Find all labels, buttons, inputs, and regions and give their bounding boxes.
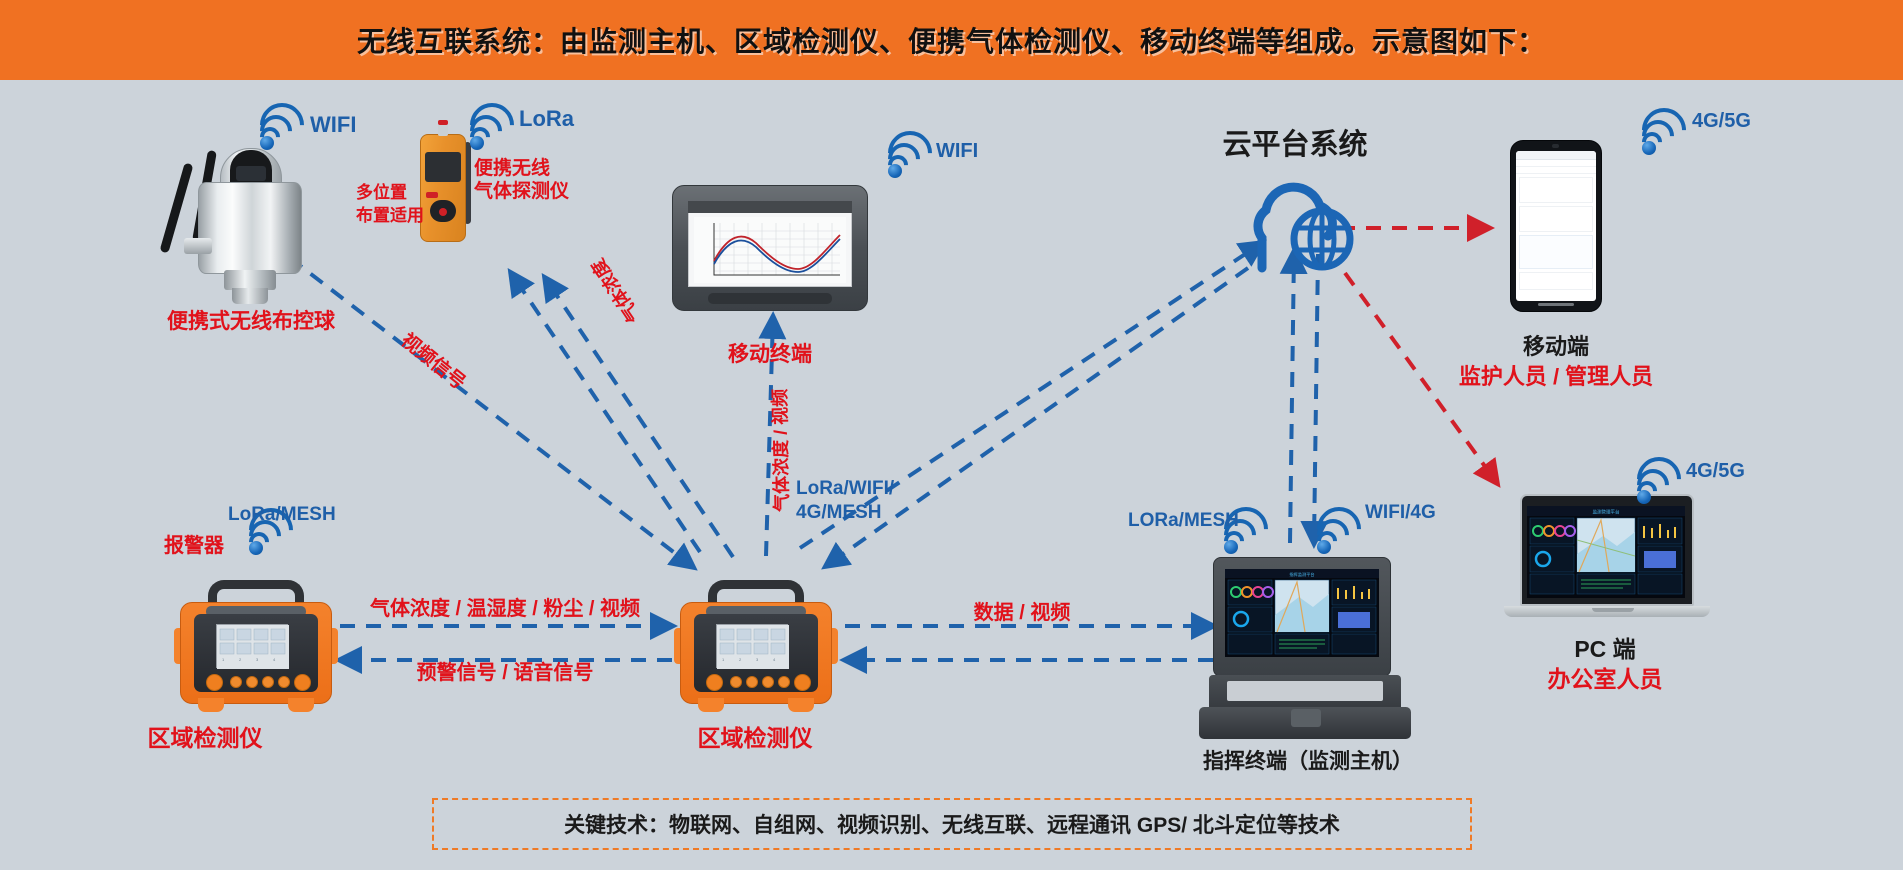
laptop-base-notch xyxy=(1592,608,1634,612)
label-gas-detector-line2: 气体探测仪 xyxy=(474,181,569,203)
camera-glass xyxy=(236,166,266,181)
signal-label-lora-gas: LoRa xyxy=(519,106,574,132)
detector-left-foot-r xyxy=(288,698,314,712)
label-mobile-client: 移动端 xyxy=(1523,334,1589,360)
detector-mid-button-1 xyxy=(730,676,742,688)
detector-mid-foot-r xyxy=(788,698,814,712)
detector-body xyxy=(420,134,466,242)
detector-left-power-button xyxy=(206,674,223,691)
link-label-video-signal: 视频信号 xyxy=(396,330,469,395)
detector-mid-button-4 xyxy=(778,676,790,688)
link-label-gas-concentration: 气体浓度 xyxy=(588,254,646,326)
detector-mid-screen-svg: 1234 xyxy=(717,625,789,669)
mobile-terminal-tablet xyxy=(672,185,868,311)
phone-stat-card-1 xyxy=(1519,177,1593,203)
label-command-terminal: 指挥终端（监测主机） xyxy=(1203,750,1413,775)
label-mobile-client-roles: 监护人员 / 管理人员 xyxy=(1459,364,1653,390)
command-touchpad xyxy=(1291,709,1321,727)
detector-mid-button-row xyxy=(706,676,810,690)
phone-stat-card-2 xyxy=(1519,206,1593,232)
detector-mid-screen: 1234 xyxy=(716,624,788,668)
tablet-button-strip xyxy=(708,293,832,304)
label-ptz-camera: 便携式无线布控球 xyxy=(167,310,335,335)
label-area-detector-left: 区域检测仪 xyxy=(148,725,263,752)
phone-tabbar xyxy=(1516,167,1596,174)
page-title: 无线互联系统：由监测主机、区域检测仪、便携气体检测仪、移动终端等组成。示意图如下… xyxy=(357,20,1546,60)
wifi-icon-camera xyxy=(258,112,304,150)
tablet-chart xyxy=(694,217,846,283)
detector-left-button-4 xyxy=(278,676,290,688)
header-banner: 无线互联系统：由监测主机、区域检测仪、便携气体检测仪、移动终端等组成。示意图如下… xyxy=(0,0,1903,80)
signal-label-lora-mesh-command: LORa/MESH xyxy=(1128,510,1239,532)
detector-left-screen: 1234 xyxy=(216,624,288,668)
label-mobile-terminal: 移动终端 xyxy=(728,343,812,368)
detector-mid-power-button xyxy=(706,674,723,691)
svg-text:指挥监测平台: 指挥监测平台 xyxy=(1289,571,1314,578)
camera-base-lower xyxy=(232,288,268,304)
key-technology-text: 关键技术：物联网、自组网、视频识别、无线互联、远程通讯 GPS/ 北斗定位等技术 xyxy=(564,809,1340,839)
ptz-camera-device xyxy=(160,120,350,310)
link-label-data-video: 数据 / 视频 xyxy=(974,602,1071,626)
detector-left-button-1 xyxy=(230,676,242,688)
signal-icon-4g5g-pc xyxy=(1635,466,1681,504)
label-alarm-device: 报警器 xyxy=(164,535,224,559)
pc-laptop-device: 监测管理平台 xyxy=(1520,494,1726,618)
detector-left-alarm-button xyxy=(294,674,311,691)
signal-label-lora-mesh-alarm: LoRa/MESH xyxy=(228,504,336,526)
link-label-lora-wifi-4g-mesh-line2: 4G/MESH xyxy=(796,502,882,524)
detector-mid-alarm-button xyxy=(794,674,811,691)
command-terminal-device: 指挥监测平台 xyxy=(1213,557,1405,743)
cloud-globe-svg xyxy=(1232,180,1372,280)
label-area-detector-mid: 区域检测仪 xyxy=(698,725,813,752)
command-dashboard-svg: 指挥监测平台 xyxy=(1225,569,1379,657)
link-label-alarm-voice: 预警信号 / 语音信号 xyxy=(417,662,594,686)
cloud-platform-icon xyxy=(1232,180,1372,280)
phone-chart-card xyxy=(1519,235,1593,269)
label-pc-client-roles: 办公室人员 xyxy=(1548,666,1663,693)
detector-center-key xyxy=(439,208,447,216)
laptop-screen: 监测管理平台 xyxy=(1527,506,1685,598)
detector-left-foot-l xyxy=(198,698,224,712)
detector-mid-button-3 xyxy=(762,676,774,688)
key-technology-box: 关键技术：物联网、自组网、视频识别、无线互联、远程通讯 GPS/ 北斗定位等技术 xyxy=(432,798,1472,850)
command-keyboard-keys xyxy=(1227,681,1383,701)
link-label-gas-and-video: 气体浓度 / 视频 xyxy=(770,389,793,512)
label-pc-client: PC 端 xyxy=(1574,636,1635,663)
lora-icon-gas-detector xyxy=(468,112,514,150)
tablet-chart-svg xyxy=(694,217,846,283)
phone-home-indicator xyxy=(1538,303,1574,306)
detector-left-button-2 xyxy=(246,676,258,688)
phone-list-card xyxy=(1519,272,1593,290)
command-screen: 指挥监测平台 xyxy=(1225,569,1379,657)
wifi-icon-tablet xyxy=(886,140,932,178)
signal-label-wifi-camera: WIFI xyxy=(310,112,356,138)
link-label-lora-wifi-4g-mesh-line1: LoRa/WIFI/ xyxy=(796,478,894,500)
detector-mid-foot-l xyxy=(698,698,724,712)
detector-left-screen-svg: 1234 xyxy=(217,625,289,669)
detector-cap xyxy=(438,120,448,125)
detector-power-button xyxy=(426,192,438,198)
area-detector-left-device: 1234 xyxy=(180,580,332,714)
detector-left-button-3 xyxy=(262,676,274,688)
camera-knob xyxy=(184,238,212,254)
area-detector-mid-device: 1234 xyxy=(680,580,832,714)
signal-label-wifi4g-command: WIFI/4G xyxy=(1365,502,1436,524)
signal-icon-wifi4g-command xyxy=(1315,516,1361,554)
laptop-dashboard-svg: 监测管理平台 xyxy=(1527,506,1685,598)
note-gas-detector-line2: 布置适用 xyxy=(356,206,424,226)
signal-label-4g5g-phone: 4G/5G xyxy=(1692,110,1751,134)
signal-label-wifi-tablet: WIFI xyxy=(936,140,978,164)
diagram-canvas: 无线互联系统：由监测主机、区域检测仪、便携气体检测仪、移动终端等组成。示意图如下… xyxy=(0,0,1903,870)
phone-app-header xyxy=(1516,151,1596,160)
phone-camera-icon xyxy=(1552,144,1559,148)
link-label-gas-temp-dust-video: 气体浓度 / 温湿度 / 粉尘 / 视频 xyxy=(370,598,640,622)
detector-left-button-row xyxy=(206,676,310,690)
signal-icon-4g5g-phone xyxy=(1640,117,1686,155)
phone-toolbar xyxy=(1516,160,1596,167)
detector-screen xyxy=(425,152,461,182)
phone-screen xyxy=(1516,151,1596,301)
svg-text:监测管理平台: 监测管理平台 xyxy=(1593,509,1620,516)
tablet-status-bar xyxy=(688,201,852,213)
camera-base xyxy=(224,270,276,290)
label-gas-detector-line1: 便携无线 xyxy=(474,158,550,180)
signal-label-4g5g-pc: 4G/5G xyxy=(1686,460,1745,484)
label-cloud-platform: 云平台系统 xyxy=(1222,128,1367,162)
mobile-phone-device xyxy=(1510,140,1602,312)
detector-mid-button-2 xyxy=(746,676,758,688)
note-gas-detector-line1: 多位置 xyxy=(356,183,407,203)
camera-body xyxy=(198,182,302,274)
